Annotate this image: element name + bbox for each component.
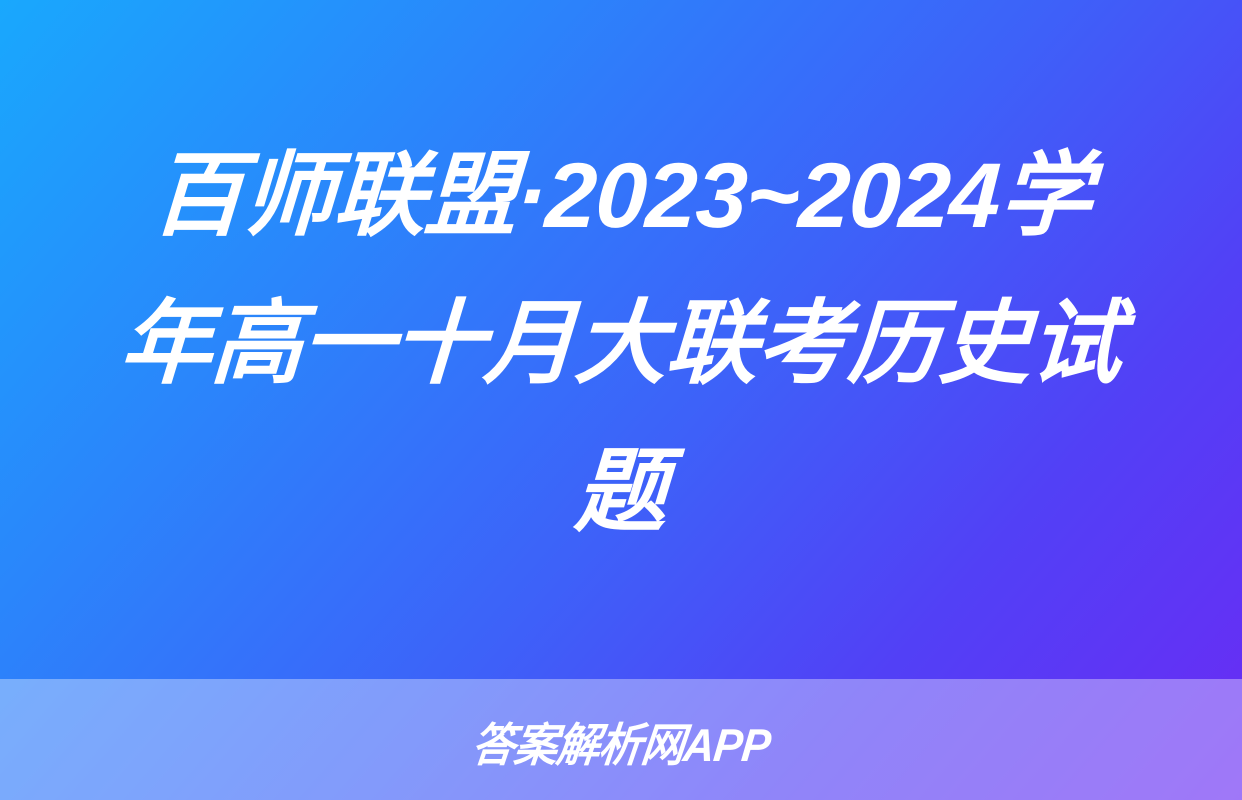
title-line-1: 百师联盟·2023~2024学	[148, 122, 1094, 270]
title-line-2: 年高一十月大联考历史试	[117, 270, 1126, 418]
footer-watermark-band: 答案解析网APP	[0, 679, 1242, 800]
title-block: 百师联盟·2023~2024学 年高一十月大联考历史试 题	[0, 0, 1242, 679]
exam-paper-banner: 百师联盟·2023~2024学 年高一十月大联考历史试 题 答案解析网APP	[0, 0, 1242, 800]
app-watermark-label: 答案解析网APP	[469, 709, 774, 775]
title-line-3: 题	[572, 418, 671, 566]
